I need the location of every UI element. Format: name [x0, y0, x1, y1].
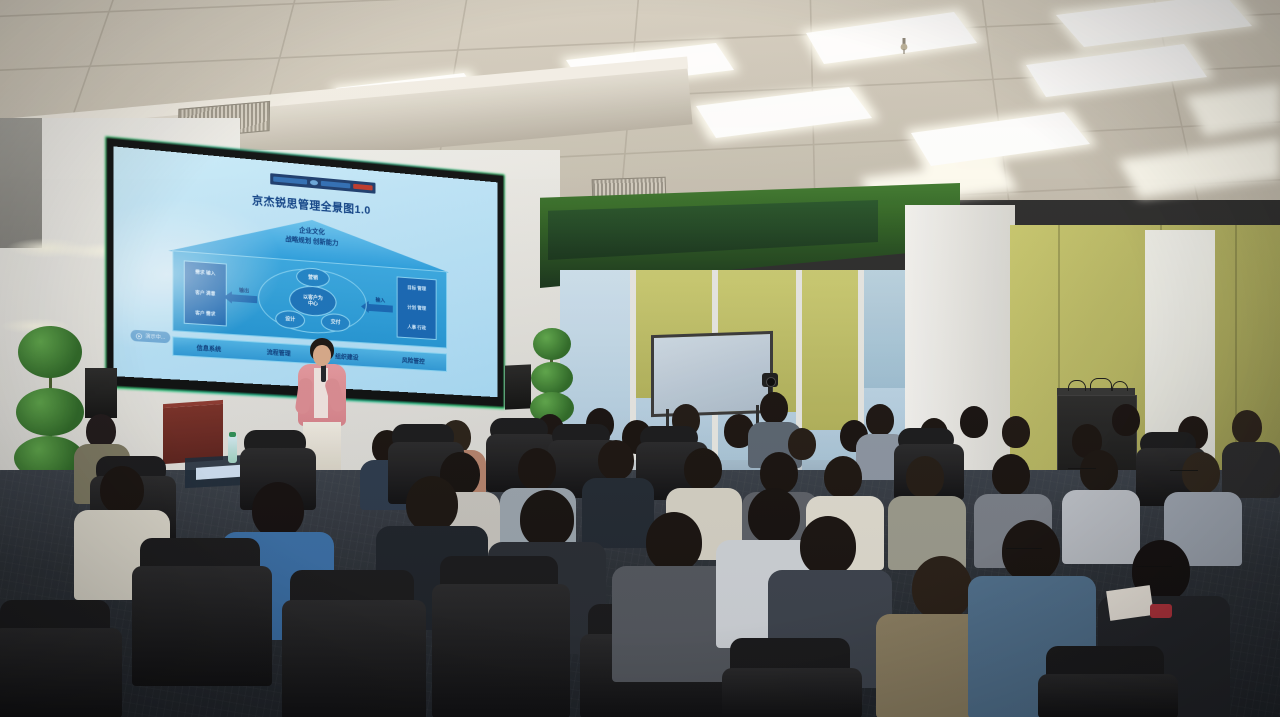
- right-arrow-label: 输入: [375, 297, 385, 305]
- framework-right-box: 目标 管理 计划 管理 人事 行政: [397, 276, 437, 340]
- center-line-2: 中心: [308, 300, 318, 307]
- right-box-line-1: 目标 管理: [407, 285, 426, 292]
- topiary-center-mid: [531, 362, 573, 394]
- secondary-whiteboard: [651, 331, 773, 417]
- presenter-face: [313, 345, 331, 366]
- base-cell-4: 风险管控: [380, 354, 446, 367]
- handheld-object: [1150, 604, 1172, 618]
- wall-panel-texture: [0, 118, 42, 248]
- framework-right-arrow: 输入: [368, 296, 393, 313]
- topiary-center-top: [533, 328, 571, 360]
- powerpoint-toolbar[interactable]: [270, 173, 375, 194]
- notebook: [1106, 585, 1154, 621]
- bottle-cap: [229, 432, 236, 437]
- camera-lens-icon: [766, 377, 776, 387]
- right-box-line-3: 人事 行政: [407, 325, 426, 332]
- right-speaker: [505, 364, 531, 409]
- microphone-icon: [321, 364, 326, 382]
- ring-node-bottom-right: 交付: [321, 312, 350, 332]
- right-arrow-icon: [368, 304, 393, 313]
- cable-loop-2: [1090, 378, 1112, 391]
- cable-loop-1: [1068, 380, 1086, 391]
- fire-sprinkler-icon: [898, 38, 910, 54]
- water-bottle: [228, 435, 237, 463]
- topiary-left-top: [18, 326, 82, 378]
- left-speaker: [85, 368, 117, 418]
- cable-loop-3: [1112, 381, 1128, 391]
- wooden-podium: [163, 400, 223, 464]
- right-box-line-2: 计划 管理: [407, 305, 426, 312]
- ring-node-top: 营销: [296, 266, 330, 287]
- topiary-left-mid: [16, 388, 84, 436]
- conference-room-photo: 京杰锐思管理全景图1.0 企业文化 战略规划 创新能力 需求 输入 客户 满意 …: [0, 0, 1280, 717]
